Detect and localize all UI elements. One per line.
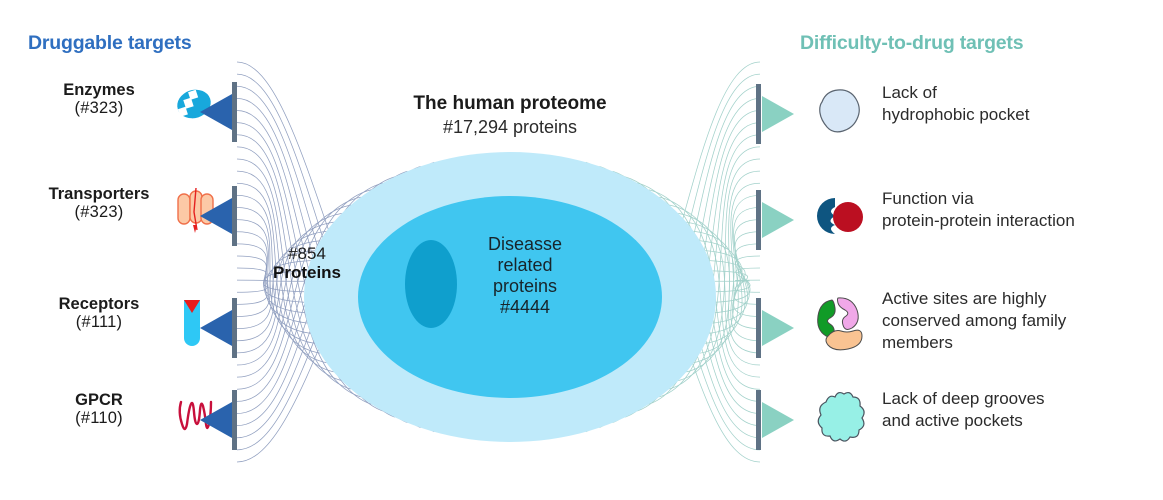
three-lobes-icon	[808, 288, 870, 350]
blob-pale-blue-icon	[808, 82, 870, 144]
left-target-name: GPCR	[24, 392, 174, 410]
left-target-count: (#323)	[24, 204, 174, 222]
proteins-label: Proteins	[252, 263, 362, 282]
proteins-number: #854	[252, 244, 362, 263]
disease-proteins-label: Diseasse related proteins #4444	[437, 234, 613, 318]
left-target-transporters[interactable]: Transporters (#323)	[0, 186, 240, 276]
left-target-name: Transporters	[24, 186, 174, 204]
two-spheres-icon	[808, 188, 870, 250]
left-target-name: Enzymes	[24, 82, 174, 100]
right-header: Difficulty-to-drug targets	[800, 32, 1023, 55]
disease-line-3: #4444	[437, 297, 613, 318]
right-line-1: hydrophobic pocket	[882, 104, 1163, 126]
right-line-1: and active pockets	[882, 410, 1163, 432]
left-target-name: Receptors	[24, 296, 174, 314]
cloud-blob-icon	[808, 388, 870, 450]
right-target-text: Lack of deep grooves and active pockets	[882, 388, 1163, 432]
disease-line-2: proteins	[437, 276, 613, 297]
proteome-title: The human proteome	[360, 92, 660, 116]
right-line-0: Lack of deep grooves	[882, 388, 1163, 410]
right-line-0: Lack of	[882, 82, 1163, 104]
right-target-text: Function via protein-protein interaction	[882, 188, 1163, 232]
proteins-count-label: #854 Proteins	[252, 244, 362, 282]
left-target-text: Transporters (#323)	[24, 186, 174, 222]
disease-line-0: Diseasse	[437, 234, 613, 255]
diagram-canvas: Druggable targets Difficulty-to-drug tar…	[0, 0, 1163, 500]
left-target-text: GPCR (#110)	[24, 392, 174, 428]
left-target-receptors[interactable]: Receptors (#111)	[0, 296, 240, 386]
left-target-count: (#111)	[24, 314, 174, 332]
left-target-count: (#110)	[24, 410, 174, 428]
right-line-0: Active sites are highly	[882, 288, 1163, 310]
disease-line-1: related	[437, 255, 613, 276]
proteome-count: #17,294 proteins	[360, 116, 660, 139]
right-target-text: Active sites are highly conserved among …	[882, 288, 1163, 354]
right-line-2: members	[882, 332, 1163, 354]
left-target-enzymes[interactable]: Enzymes (#323)	[0, 82, 240, 172]
left-target-text: Enzymes (#323)	[24, 82, 174, 118]
right-line-0: Function via	[882, 188, 1163, 210]
right-target-text: Lack of hydrophobic pocket	[882, 82, 1163, 126]
left-target-count: (#323)	[24, 100, 174, 118]
left-target-gpcr[interactable]: GPCR (#110)	[0, 392, 240, 482]
proteome-label: The human proteome #17,294 proteins	[360, 92, 660, 138]
right-line-1: protein-protein interaction	[882, 210, 1163, 232]
right-line-1: conserved among family	[882, 310, 1163, 332]
left-target-text: Receptors (#111)	[24, 296, 174, 332]
left-header: Druggable targets	[28, 32, 191, 55]
